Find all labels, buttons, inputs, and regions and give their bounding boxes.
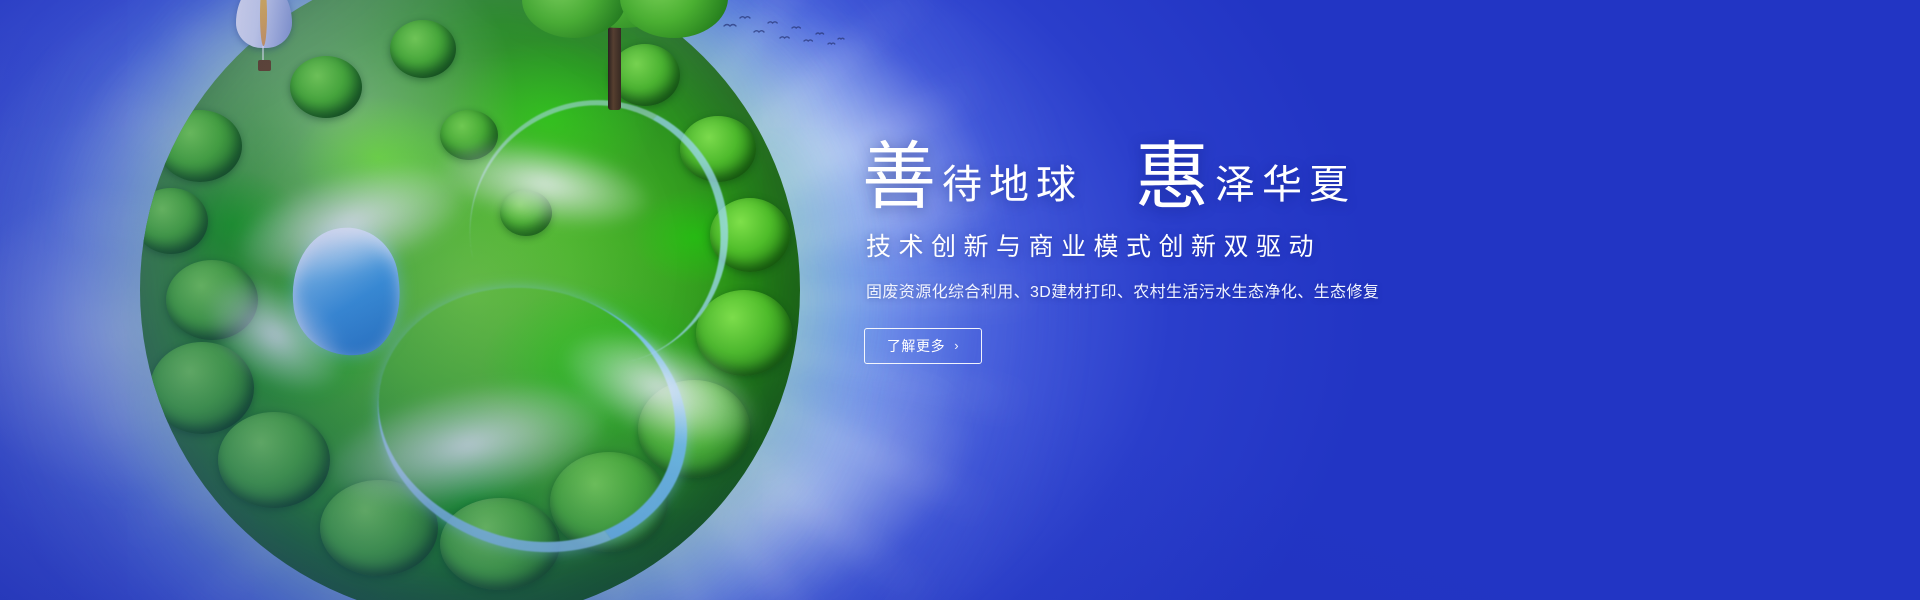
- hot-air-balloon-icon: [236, 0, 292, 74]
- headline-char-shan: 善: [862, 143, 936, 214]
- balloon-basket: [258, 60, 271, 71]
- tree-canopy: [158, 110, 242, 182]
- hero-headline: 善 待地球 惠 泽华夏: [862, 128, 1562, 214]
- tree-foliage: [620, 0, 728, 38]
- tree-canopy: [390, 20, 456, 78]
- headline-char-hui: 惠: [1135, 143, 1209, 214]
- hero-tree-icon: [516, 0, 726, 114]
- tiny-planet-illustration: [140, 0, 800, 600]
- headline-text-daidiqiu: 待地球: [942, 165, 1083, 214]
- learn-more-button[interactable]: 了解更多 ›: [864, 328, 982, 364]
- bird-flock-icon: [720, 10, 850, 60]
- tree-canopy: [290, 56, 362, 118]
- chevron-right-icon: ›: [954, 339, 959, 352]
- hero-copy-block: 善 待地球 惠 泽华夏 技术创新与商业模式创新双驱动 固废资源化综合利用、3D建…: [862, 128, 1562, 364]
- headline-text-zehuaxia: 泽华夏: [1215, 165, 1356, 214]
- hero-banner: 善 待地球 惠 泽华夏 技术创新与商业模式创新双驱动 固废资源化综合利用、3D建…: [0, 0, 1920, 600]
- hero-subtitle: 技术创新与商业模式创新双驱动: [866, 232, 1562, 262]
- tree-canopy: [218, 412, 330, 508]
- learn-more-label: 了解更多: [887, 336, 945, 356]
- hero-description: 固废资源化综合利用、3D建材打印、农村生活污水生态净化、生态修复: [866, 282, 1562, 304]
